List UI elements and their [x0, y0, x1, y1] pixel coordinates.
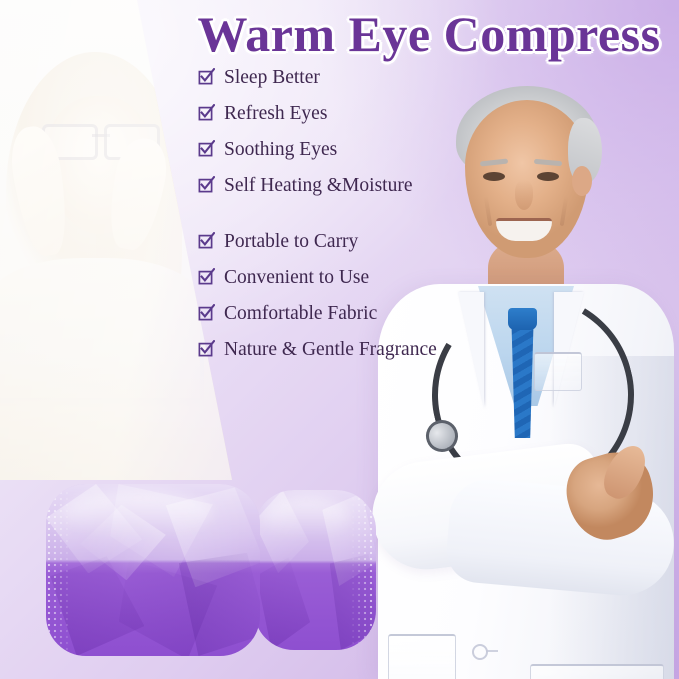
- doctor-smile: [496, 218, 552, 241]
- coat-chest-pocket: [534, 352, 582, 391]
- feature-label: Self Heating &Moisture: [224, 176, 412, 196]
- feature-label: Nature & Gentle Fragrance: [224, 340, 437, 360]
- feature-label: Sleep Better: [224, 68, 320, 88]
- feature-label: Refresh Eyes: [224, 104, 327, 124]
- feature-group-usage: Portable to Carry Convenient to Use: [198, 230, 498, 360]
- list-item: Comfortable Fabric: [198, 302, 498, 324]
- feature-group-benefits: Sleep Better Refresh Eyes: [198, 66, 498, 196]
- list-item: Refresh Eyes: [198, 102, 498, 124]
- page-title: Warm Eye Compress: [186, 8, 672, 61]
- coat-pocket-left: [388, 634, 456, 679]
- coat-pocket-right: [530, 664, 664, 679]
- list-item: Convenient to Use: [198, 266, 498, 288]
- checkbox-checked-icon: [198, 268, 215, 285]
- checkbox-checked-icon: [198, 104, 215, 121]
- feature-label: Convenient to Use: [224, 268, 369, 288]
- doctor-eye-right: [537, 172, 559, 181]
- doctor-nose: [515, 180, 533, 210]
- product-poster: Warm Eye Compress Sleep Better: [0, 0, 679, 679]
- eye-mask-piece-left: [46, 484, 260, 656]
- feature-label: Soothing Eyes: [224, 140, 337, 160]
- mask-perforated-edge-left: [46, 484, 72, 656]
- mask-gloss-right: [264, 496, 349, 538]
- eye-compress-product: [46, 484, 376, 656]
- list-item: Nature & Gentle Fragrance: [198, 338, 498, 360]
- feature-list-container: Sleep Better Refresh Eyes: [198, 66, 498, 374]
- mask-perforated-edge-right: [350, 490, 376, 650]
- list-item: Portable to Carry: [198, 230, 498, 252]
- eye-mask-piece-right: [254, 490, 376, 650]
- doctor-ear: [572, 166, 592, 196]
- feature-label: Portable to Carry: [224, 232, 358, 252]
- checkbox-checked-icon: [198, 304, 215, 321]
- checkbox-checked-icon: [198, 340, 215, 357]
- mask-gloss-left: [63, 491, 213, 536]
- checkbox-checked-icon: [198, 68, 215, 85]
- checkbox-checked-icon: [198, 232, 215, 249]
- feature-label: Comfortable Fabric: [224, 304, 377, 324]
- checkbox-checked-icon: [198, 176, 215, 193]
- list-item: Soothing Eyes: [198, 138, 498, 160]
- checkbox-checked-icon: [198, 140, 215, 157]
- coat-button: [472, 644, 488, 660]
- list-item: Sleep Better: [198, 66, 498, 88]
- list-item: Self Heating &Moisture: [198, 174, 498, 196]
